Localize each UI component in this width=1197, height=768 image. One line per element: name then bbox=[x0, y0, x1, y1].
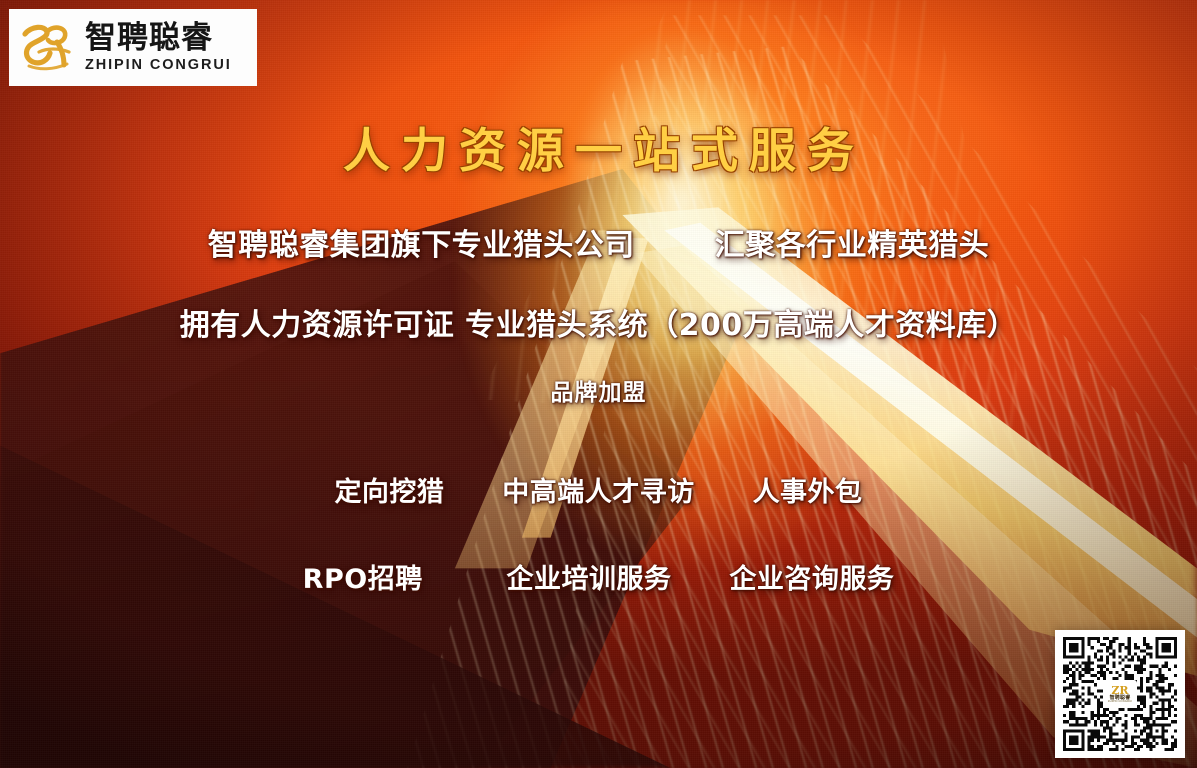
credential-item-1: 智聘聪睿集团旗下专业猎头公司 bbox=[208, 228, 635, 263]
license-item-1: 拥有人力资源许可证 专业猎头系统（200万高端人才资料库） bbox=[180, 308, 1018, 343]
qr-center-logo: ZR 智聘聪睿 ZHIPIN CONGRUI bbox=[1103, 680, 1137, 708]
banner-copy: 人力资源一站式服务 智聘聪睿集团旗下专业猎头公司 汇聚各行业精英猎头 拥有人力资… bbox=[0, 0, 1197, 768]
hr-service-banner: 智聘聪睿 ZHIPIN CONGRUI 人力资源一站式服务 智聘聪睿集团旗下专业… bbox=[0, 0, 1197, 768]
service-item-hr-outsourcing: 人事外包 bbox=[753, 477, 863, 508]
franchise-item-1: 品牌加盟 bbox=[551, 380, 647, 406]
service-item-rpo: RPO招聘 bbox=[303, 564, 423, 595]
row-services-secondary: RPO招聘 企业培训服务 企业咨询服务 bbox=[0, 557, 1197, 596]
qr-logo-en: ZHIPIN CONGRUI bbox=[1108, 701, 1132, 704]
row-services-primary: 定向挖猎 中高端人才寻访 人事外包 bbox=[0, 470, 1197, 509]
service-item-consulting: 企业咨询服务 bbox=[729, 564, 894, 595]
qr-code-plate[interactable]: ZR 智聘聪睿 ZHIPIN CONGRUI bbox=[1055, 630, 1185, 758]
row-license: 拥有人力资源许可证 专业猎头系统（200万高端人才资料库） bbox=[0, 300, 1197, 344]
service-item-directed-search: 定向挖猎 bbox=[334, 477, 444, 508]
row-franchise: 品牌加盟 bbox=[0, 373, 1197, 407]
qr-code-canvas[interactable]: ZR 智聘聪睿 ZHIPIN CONGRUI bbox=[1062, 637, 1178, 751]
row-credentials: 智聘聪睿集团旗下专业猎头公司 汇聚各行业精英猎头 bbox=[0, 220, 1197, 264]
credential-item-2: 汇聚各行业精英猎头 bbox=[715, 228, 990, 263]
service-item-training: 企业培训服务 bbox=[507, 564, 672, 595]
page-title: 人力资源一站式服务 bbox=[0, 112, 1197, 181]
service-item-executive-search: 中高端人才寻访 bbox=[502, 477, 695, 508]
